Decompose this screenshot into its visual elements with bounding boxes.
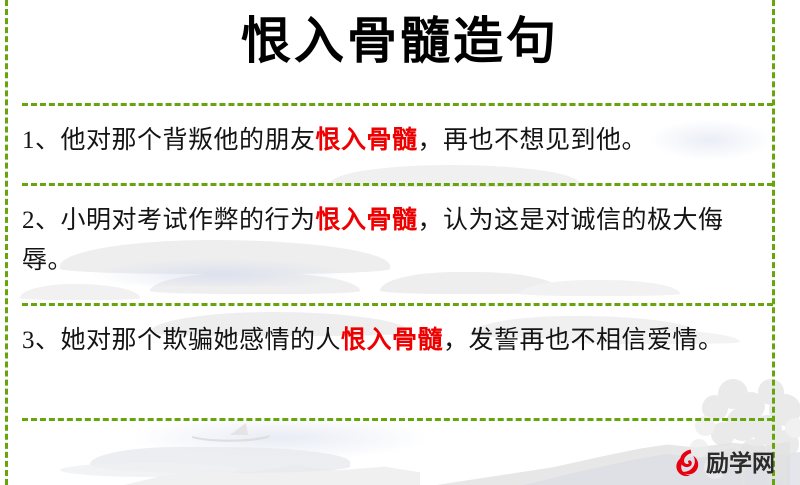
highlighted-idiom: 恨入骨髓	[341, 327, 443, 354]
flame-swirl-icon	[672, 448, 702, 478]
separator-bottom	[22, 418, 773, 421]
watermark-mountain	[120, 440, 420, 485]
watermark-water	[90, 447, 350, 473]
example-sentence-1: 1、他对那个背叛他的朋友恨入骨髓，再也不想见到他。	[22, 121, 760, 161]
sentence-index: 3、	[22, 327, 61, 354]
sentence-index: 1、	[22, 127, 61, 154]
watermark-cloud	[520, 280, 680, 296]
separator-2-3	[22, 303, 773, 306]
sentence-text-before: 小明对考试作弊的行为	[61, 207, 316, 234]
sentence-text-before: 他对那个背叛他的朋友	[61, 127, 316, 154]
watermark-water	[60, 463, 240, 477]
separator-top	[22, 103, 773, 106]
example-sentence-2: 2、小明对考试作弊的行为恨入骨髓，认为这是对诚信的极大侮辱。	[22, 201, 760, 281]
sentence-text-after: ，发誓再也不相信爱情。	[443, 327, 724, 354]
sentence-index: 2、	[22, 207, 61, 234]
watermark-blue-wash	[130, 415, 430, 461]
sentence-text-after: ，再也不想见到他。	[418, 127, 648, 154]
page-border-left	[5, 0, 8, 485]
watermark-cloud	[20, 284, 140, 300]
highlighted-idiom: 恨入骨髓	[316, 127, 418, 154]
slide-canvas: 恨入骨髓造句 1、他对那个背叛他的朋友恨入骨髓，再也不想见到他。 2、小明对考试…	[0, 0, 800, 485]
example-sentence-3: 3、她对那个欺骗她感情的人恨入骨髓，发誓再也不相信爱情。	[22, 321, 760, 361]
highlighted-idiom: 恨入骨髓	[316, 207, 418, 234]
separator-1-2	[22, 183, 773, 186]
site-logo: 励学网	[672, 448, 775, 478]
sentence-text-before: 她对那个欺骗她感情的人	[61, 327, 342, 354]
site-logo-text: 励学网	[706, 452, 775, 475]
watermark-boat-icon	[190, 422, 280, 442]
page-title: 恨入骨髓造句	[0, 12, 800, 71]
page-border-right	[772, 0, 775, 485]
